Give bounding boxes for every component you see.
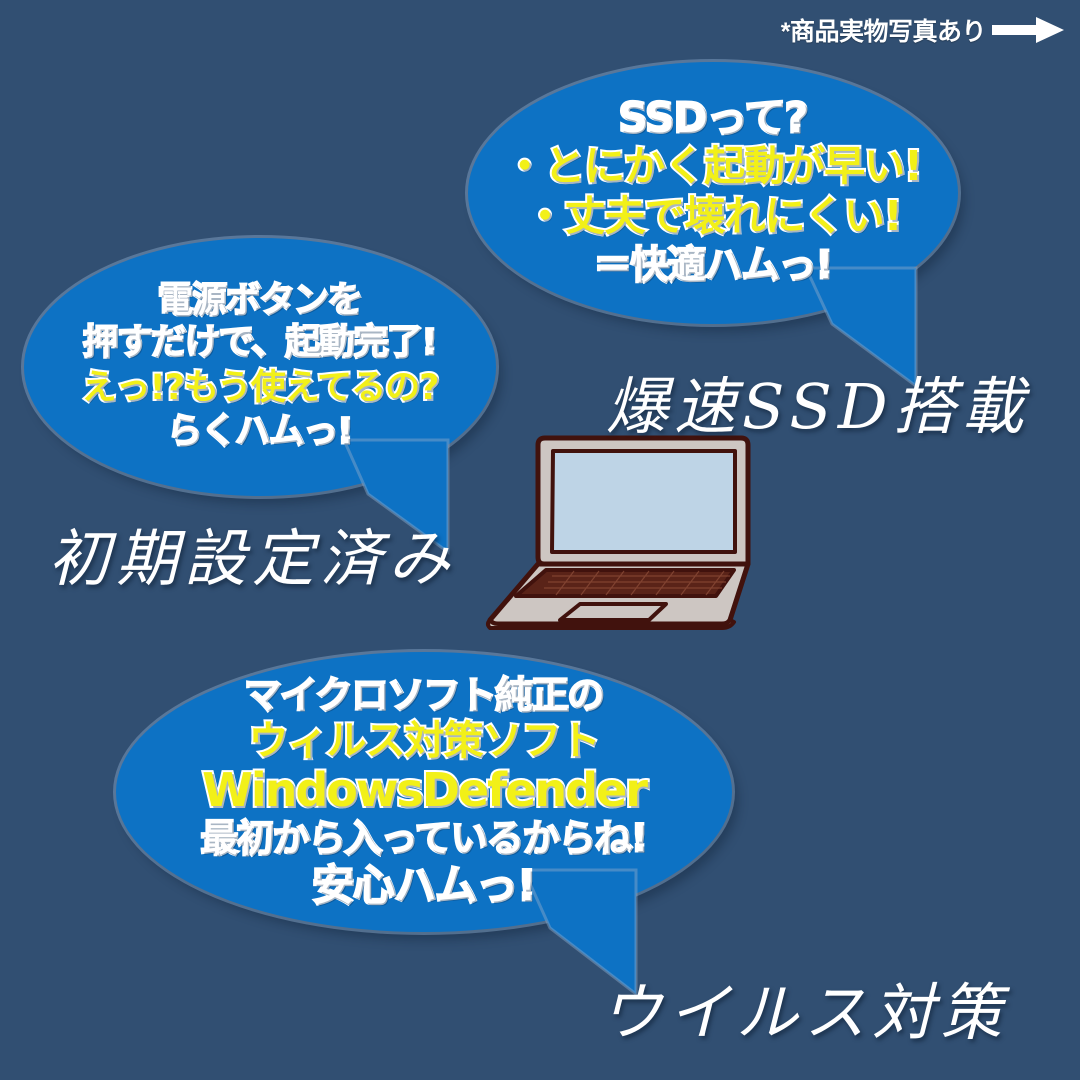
arrow-right-icon: [992, 17, 1064, 43]
speech-bubble-ssd: SSDって? ・とにかく起動が早い! ・丈夫で壊れにくい! ＝快適ハムっ!: [468, 62, 958, 324]
bubble-line: えっ!?もう使えてるの?: [82, 369, 439, 408]
photo-note-label: *商品実物写真あり: [781, 12, 986, 48]
caption-ssd: 爆速SSD搭載: [606, 356, 1030, 446]
bubble-text-defender: マイクロソフト純正の ウィルス対策ソフト WindowsDefender 最初か…: [116, 652, 732, 932]
bubble-text-ssd: SSDって? ・とにかく起動が早い! ・丈夫で壊れにくい! ＝快適ハムっ!: [468, 62, 958, 324]
promo-banner: *商品実物写真あり SSDって? ・とにかく起動が早い! ・丈夫で壊れにくい! …: [0, 0, 1080, 1080]
bubble-text-power: 電源ボタンを 押すだけで、起動完了! えっ!?もう使えてるの? らくハムっ!: [24, 238, 496, 496]
bubble-line: ・丈夫で壊れにくい!: [525, 194, 902, 240]
photo-note: *商品実物写真あり: [781, 12, 1064, 48]
bubble-line: らくハムっ!: [168, 413, 353, 452]
bubble-line: 安心ハムっ!: [312, 862, 535, 909]
bubble-line: ＝快適ハムっ!: [594, 244, 832, 287]
caption-setup: 初期設定済み: [48, 508, 456, 598]
bubble-line: SSDって?: [619, 96, 808, 142]
bubble-line: WindowsDefender: [202, 765, 646, 817]
bubble-line: 押すだけで、起動完了!: [83, 324, 437, 363]
bubble-line: マイクロソフト純正の: [244, 675, 603, 716]
speech-bubble-power: 電源ボタンを 押すだけで、起動完了! えっ!?もう使えてるの? らくハムっ!: [24, 238, 496, 496]
bubble-line: ウィルス対策ソフト: [249, 719, 600, 764]
bubble-line: 電源ボタンを: [158, 282, 362, 321]
bubble-line: 最初から入っているからね!: [201, 818, 647, 859]
speech-bubble-defender: マイクロソフト純正の ウィルス対策ソフト WindowsDefender 最初か…: [116, 652, 732, 932]
caption-virus: ウイルス対策: [600, 962, 1008, 1052]
bubble-line: ・とにかく起動が早い!: [504, 144, 922, 190]
